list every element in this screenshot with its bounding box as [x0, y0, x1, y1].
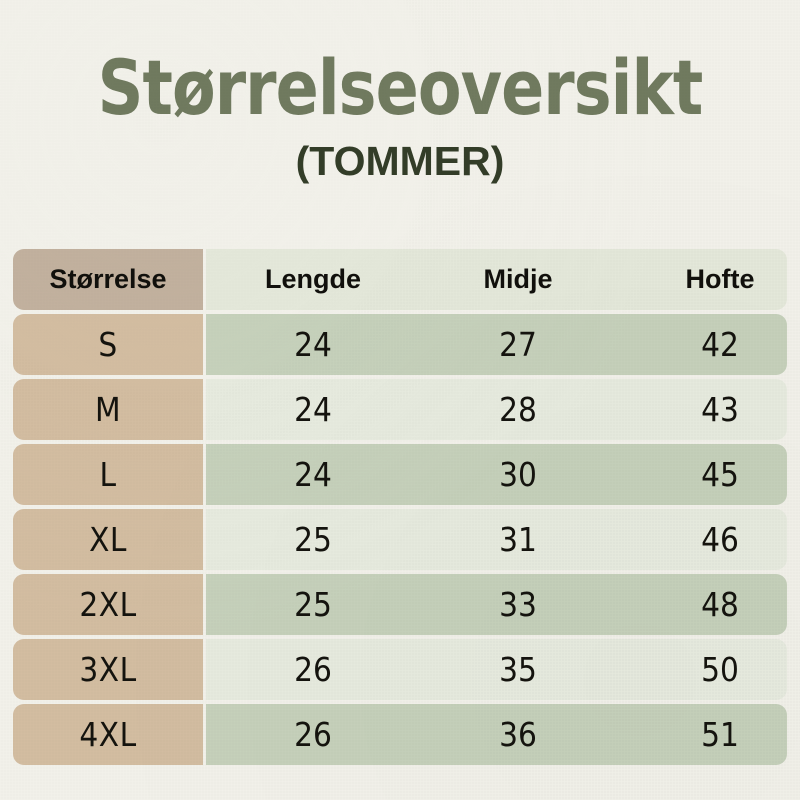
row-size-cell: M: [13, 379, 203, 440]
cell-midje: 33: [499, 585, 537, 624]
row-size-cell: XL: [13, 509, 203, 570]
page-title: Størrelseoversikt: [28, 47, 772, 129]
size-table: Størrelse Lengde Midje Hofte S242742M242…: [13, 249, 787, 769]
table-body: S242742M242843L243045XL2531462XL2533483X…: [13, 314, 787, 765]
row-values-band: 253146: [206, 509, 787, 570]
row-size-cell: L: [13, 444, 203, 505]
cell-midje: 28: [499, 390, 537, 429]
row-size-label: 2XL: [79, 585, 136, 624]
cell-hofte: 46: [701, 520, 739, 559]
table-row: M242843: [13, 379, 787, 440]
table-row: 2XL253348: [13, 574, 787, 635]
row-values-band: 242742: [206, 314, 787, 375]
cell-lengde: 26: [294, 715, 332, 754]
table-row: L243045: [13, 444, 787, 505]
cell-midje: 35: [499, 650, 537, 689]
header-label-lengde: Lengde: [265, 264, 361, 295]
heading-block: Størrelseoversikt (TOMMER): [0, 47, 800, 184]
row-size-label: L: [99, 455, 116, 494]
row-values-band: 263550: [206, 639, 787, 700]
header-values-band: Lengde Midje Hofte: [206, 249, 787, 310]
cell-hofte: 48: [701, 585, 739, 624]
cell-midje: 36: [499, 715, 537, 754]
cell-midje: 31: [499, 520, 537, 559]
header-label-midje: Midje: [483, 264, 552, 295]
page-subtitle: (TOMMER): [0, 138, 800, 184]
header-label-hofte: Hofte: [686, 264, 755, 295]
table-row: XL253146: [13, 509, 787, 570]
size-chart-page: Størrelseoversikt (TOMMER) Størrelse Len…: [0, 0, 800, 800]
cell-lengde: 24: [294, 325, 332, 364]
cell-hofte: 43: [701, 390, 739, 429]
cell-hofte: 42: [701, 325, 739, 364]
row-size-label: S: [98, 325, 117, 364]
cell-hofte: 51: [701, 715, 739, 754]
row-size-label: 4XL: [79, 715, 136, 754]
row-values-band: 242843: [206, 379, 787, 440]
cell-hofte: 50: [701, 650, 739, 689]
row-size-cell: 2XL: [13, 574, 203, 635]
cell-midje: 27: [499, 325, 537, 364]
cell-lengde: 26: [294, 650, 332, 689]
header-cell-size: Størrelse: [13, 249, 203, 310]
cell-lengde: 25: [294, 520, 332, 559]
row-size-cell: 3XL: [13, 639, 203, 700]
row-size-label: XL: [89, 520, 127, 559]
row-values-band: 263651: [206, 704, 787, 765]
table-header-row: Størrelse Lengde Midje Hofte: [13, 249, 787, 310]
cell-midje: 30: [499, 455, 537, 494]
row-size-label: 3XL: [79, 650, 136, 689]
row-values-band: 243045: [206, 444, 787, 505]
row-values-band: 253348: [206, 574, 787, 635]
table-row: 4XL263651: [13, 704, 787, 765]
row-size-cell: S: [13, 314, 203, 375]
cell-lengde: 24: [294, 390, 332, 429]
row-size-cell: 4XL: [13, 704, 203, 765]
cell-lengde: 25: [294, 585, 332, 624]
table-row: 3XL263550: [13, 639, 787, 700]
table-row: S242742: [13, 314, 787, 375]
header-label-size: Størrelse: [49, 264, 166, 295]
row-size-label: M: [95, 390, 121, 429]
cell-hofte: 45: [701, 455, 739, 494]
cell-lengde: 24: [294, 455, 332, 494]
